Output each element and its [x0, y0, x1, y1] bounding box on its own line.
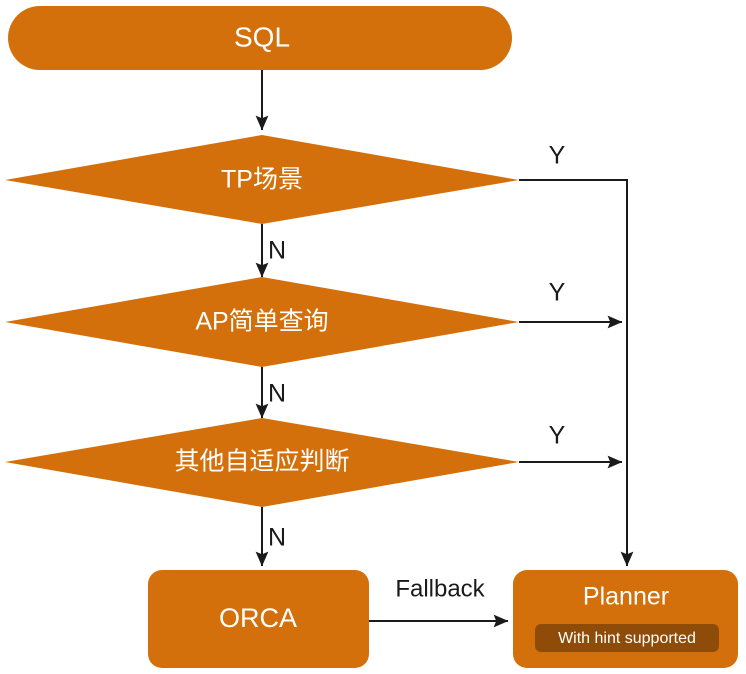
node-planner-label: Planner	[583, 583, 669, 611]
node-orca-label: ORCA	[219, 603, 297, 633]
edge-label-other-adaptive-no: N	[268, 524, 286, 552]
edge-label-other-adaptive-yes: Y	[549, 422, 566, 450]
edge-label-ap-simple-query-yes: Y	[549, 279, 566, 307]
edge-tp-scene-yes	[519, 180, 627, 566]
flowchart-canvas: SQL TP场景 AP简单查询 其他自适应判断 ORCA Planner Wit…	[0, 0, 746, 674]
node-sql-label: SQL	[234, 21, 290, 52]
edge-label-tp-scene-no: N	[268, 237, 286, 265]
node-tp-scene-label: TP场景	[221, 166, 303, 194]
edge-label-orca-fallback: Fallback	[395, 575, 485, 602]
node-ap-simple-query-label: AP简单查询	[195, 308, 328, 336]
flowchart-svg: SQL TP场景 AP简单查询 其他自适应判断 ORCA Planner Wit…	[0, 0, 746, 674]
edge-label-ap-simple-query-no: N	[268, 380, 286, 408]
edge-label-tp-scene-yes: Y	[549, 142, 566, 170]
node-other-adaptive-label: 其他自适应判断	[174, 448, 349, 476]
node-planner-badge-label: With hint supported	[558, 630, 696, 647]
